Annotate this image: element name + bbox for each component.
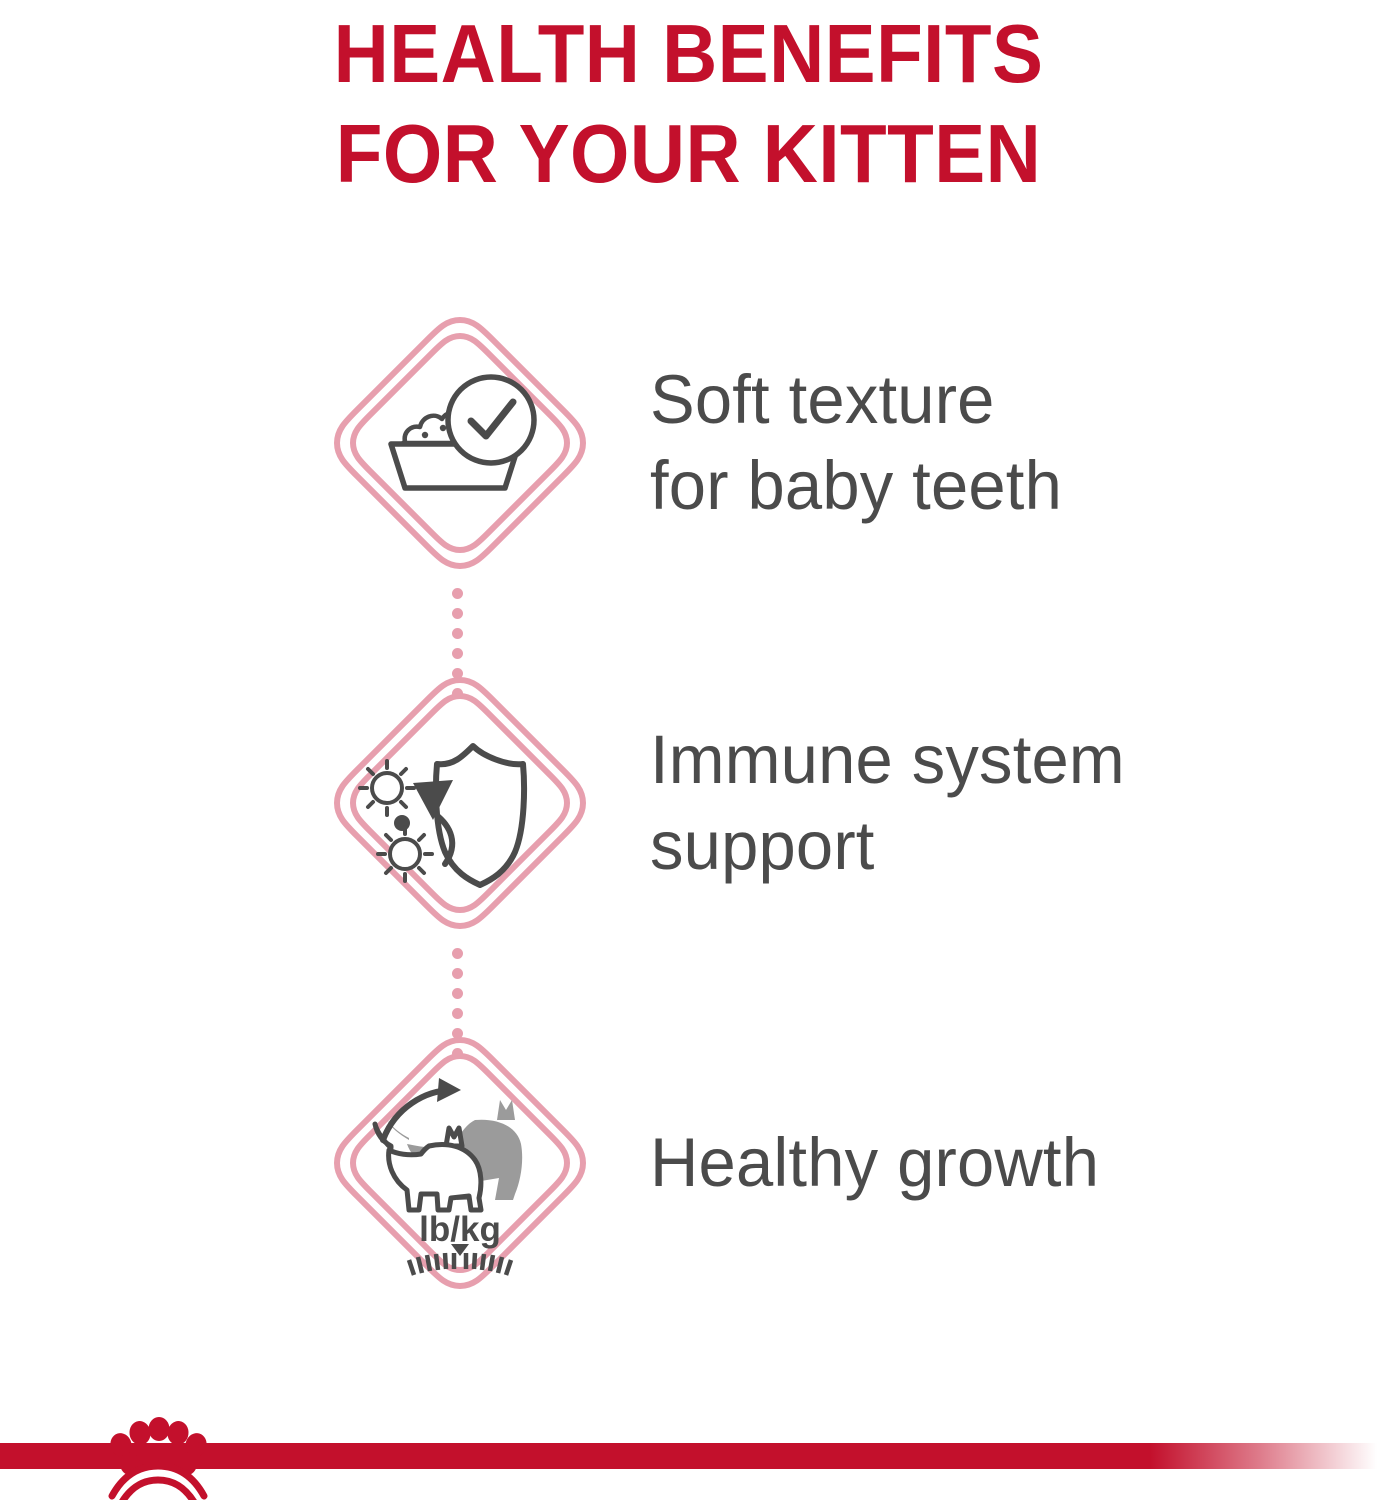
benefit-item-immune-system: Immune system support: [0, 668, 1377, 938]
benefit-label-healthy-growth: Healthy growth: [650, 1120, 1099, 1206]
connector-dot: [452, 988, 463, 999]
connector-dot: [452, 588, 463, 599]
food-bowl-check-icon: [325, 308, 595, 578]
benefit-label-soft-texture: Soft texture for baby teeth: [650, 357, 1062, 529]
health-benefits-panel: HEALTH BENEFITS FOR YOUR KITTEN: [0, 0, 1377, 1500]
connector-dot: [452, 1048, 463, 1059]
connector-dot: [452, 608, 463, 619]
connector-dot: [452, 688, 463, 699]
royal-canin-crown-logo: [100, 1412, 208, 1500]
connector-dot: [452, 628, 463, 639]
benefit-item-soft-texture: Soft texture for baby teeth: [0, 308, 1377, 578]
connector-dots-1: [452, 588, 466, 694]
shield-germs-icon: [325, 668, 595, 938]
benefits-list: Soft texture for baby teeth: [0, 308, 1377, 1298]
connector-dot: [452, 668, 463, 679]
benefit-label-immune-system: Immune system support: [650, 717, 1125, 889]
scale-unit-label: lb/kg: [419, 1210, 501, 1249]
connector-dot: [452, 968, 463, 979]
growing-cat-scale-icon: lb/kg: [325, 1028, 595, 1298]
page-title-line-2: FOR YOUR KITTEN: [55, 104, 1322, 204]
connector-dots-2: [452, 948, 466, 1054]
benefit-item-healthy-growth: lb/kg: [0, 1028, 1377, 1298]
connector-dot: [452, 648, 463, 659]
connector-dot: [452, 948, 463, 959]
page-title-line-1: HEALTH BENEFITS: [55, 4, 1322, 104]
connector-dot: [452, 1028, 463, 1039]
connector-dot: [452, 1008, 463, 1019]
page-title: HEALTH BENEFITS FOR YOUR KITTEN: [0, 0, 1377, 204]
